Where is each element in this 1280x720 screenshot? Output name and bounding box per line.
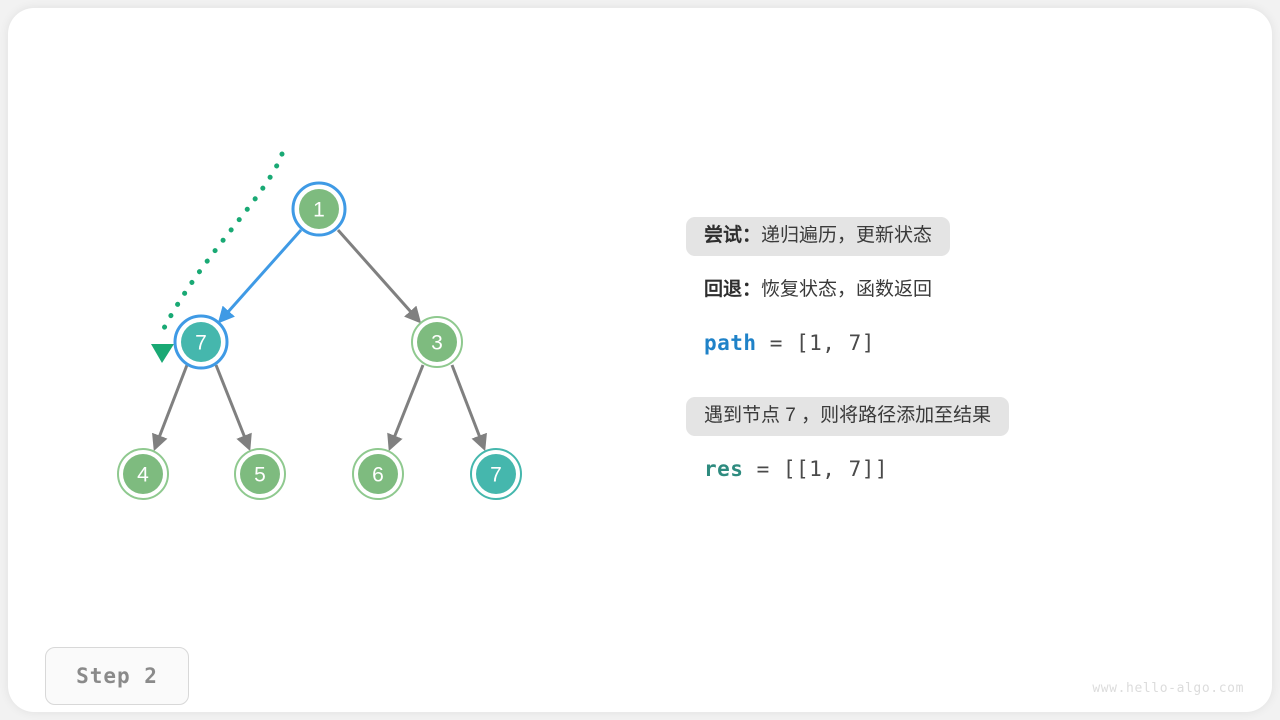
panel-line-res: res = [[1, 7]] (686, 447, 1246, 493)
try-label: 尝试： (704, 225, 761, 246)
tree-node-3-label: 3 (431, 332, 443, 355)
tree-node-7-left[interactable]: 7 (175, 316, 227, 368)
tree-node-7-right-label: 7 (490, 464, 502, 487)
step-badge: Step 2 (45, 647, 189, 705)
tree-node-6-label: 6 (372, 464, 384, 487)
illustration-card: 1 7 3 (8, 8, 1272, 712)
backtrack-annotation: 回退：恢复状态，函数返回 (686, 271, 950, 310)
screenshot-root: 1 7 3 (0, 0, 1280, 720)
tree-node-5-label: 5 (254, 464, 266, 487)
panel-line-path: path = [1, 7] (686, 321, 1246, 367)
found-annotation: 遇到节点 7 ，则将路径添加至结果 (686, 397, 1009, 436)
try-description: 递归遍历，更新状态 (761, 225, 932, 246)
tree-node-5[interactable]: 5 (235, 449, 285, 499)
path-statement: path = [1, 7] (686, 324, 893, 365)
path-value: = [1, 7] (757, 331, 875, 355)
panel-line-backtrack: 回退：恢复状态，函数返回 (686, 267, 1246, 313)
backtrack-description: 恢复状态，函数返回 (761, 279, 932, 300)
edge-3-to-7b (452, 365, 484, 448)
tree-node-4[interactable]: 4 (118, 449, 168, 499)
res-value: = [[1, 7]] (743, 457, 888, 481)
backtrack-label: 回退： (704, 279, 761, 300)
explanation-panel: 尝试：递归遍历，更新状态 回退：恢复状态，函数返回 path = [1, 7] … (686, 213, 1246, 501)
path-variable: path (704, 331, 757, 355)
tree-node-3[interactable]: 3 (412, 317, 462, 367)
backtrack-arrow-marker (151, 344, 174, 363)
tree-nodes: 1 7 3 (118, 183, 521, 499)
panel-line-try: 尝试：递归遍历，更新状态 (686, 213, 1246, 259)
tree-node-4-label: 4 (137, 464, 149, 487)
edge-7-to-4 (155, 365, 187, 448)
edge-1-to-3 (338, 230, 419, 321)
tree-node-1[interactable]: 1 (293, 183, 345, 235)
watermark: www.hello-algo.com (1092, 681, 1244, 696)
edge-7-to-5 (216, 365, 249, 448)
res-variable: res (704, 457, 743, 481)
tree-node-7-left-label: 7 (195, 332, 207, 355)
tree-node-7-right[interactable]: 7 (471, 449, 521, 499)
tree-node-1-label: 1 (313, 199, 325, 222)
try-annotation: 尝试：递归遍历，更新状态 (686, 217, 950, 256)
tree-node-6[interactable]: 6 (353, 449, 403, 499)
panel-line-found: 遇到节点 7 ，则将路径添加至结果 (686, 393, 1246, 439)
edge-1-to-7 (220, 230, 301, 321)
edge-3-to-6 (390, 365, 423, 448)
res-statement: res = [[1, 7]] (686, 450, 906, 491)
panel-spacer (686, 375, 1246, 393)
